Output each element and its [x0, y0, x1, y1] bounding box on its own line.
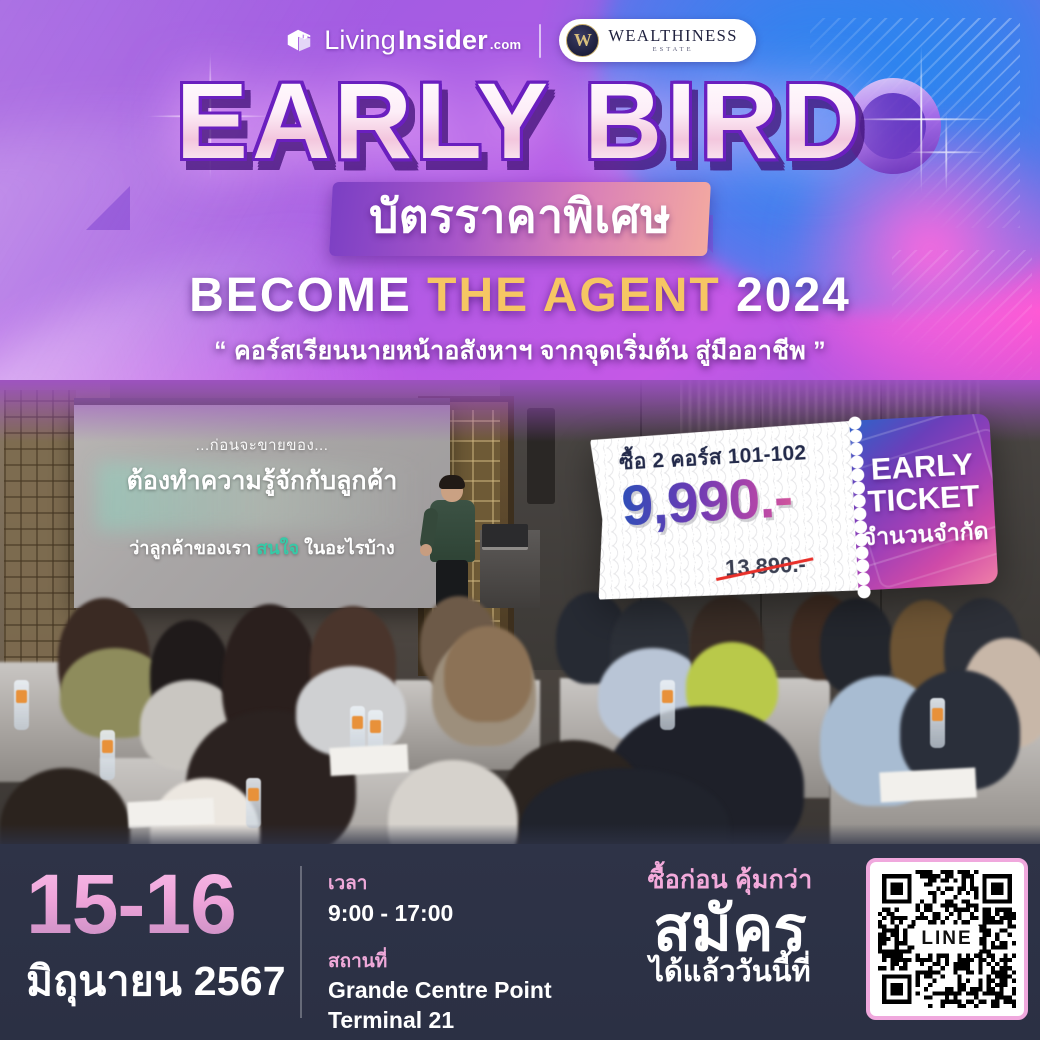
slide-line-3-pre: ว่าลูกค้าของเรา	[129, 538, 256, 558]
audience-person	[444, 626, 532, 722]
qr-block: LINE	[864, 844, 1040, 1040]
logo-word-insider: Insider	[398, 25, 488, 56]
water-bottle	[246, 778, 261, 828]
water-bottle	[100, 730, 115, 780]
event-day-range: 15-16	[26, 866, 300, 943]
subtitle-become: BECOME	[189, 269, 412, 322]
handout	[879, 768, 976, 803]
time-label: เวลา	[328, 870, 602, 899]
venue-line-1: Grande Centre Point	[328, 976, 602, 1005]
living-insider-wordmark: Living Insider .com	[324, 25, 521, 56]
brand-header: Living Insider .com W WEALTHINESS ESTATE	[0, 19, 1040, 62]
water-bottle	[14, 680, 29, 730]
wealthiness-logo[interactable]: W WEALTHINESS ESTATE	[559, 19, 755, 62]
living-insider-logo[interactable]: Living Insider .com	[284, 25, 521, 56]
slide-line-3-highlight: สนใจ	[256, 538, 299, 558]
event-month-year: มิถุนายน 2567	[26, 949, 300, 1014]
early-ticket-badge[interactable]: ซื้อ 2 คอร์ส 101-102 9,990.- 13,890.- EA…	[590, 413, 999, 604]
hero-block: EARLY BIRD บัตรราคาพิเศษ BECOME THE AGEN…	[0, 64, 1040, 371]
logo-word-living: Living	[324, 25, 396, 56]
ticket-price: 9,990.-	[620, 464, 863, 535]
cta-headline: ซื้อก่อน คุ้มกว่า	[648, 860, 813, 900]
venue-label: สถานที่	[328, 948, 602, 977]
event-date-block: 15-16 มิถุนายน 2567	[0, 844, 300, 1040]
thai-price-badge: บัตรราคาพิเศษ	[329, 182, 711, 256]
wealthiness-wordmark: WEALTHINESS ESTATE	[608, 28, 737, 54]
thai-price-badge-label: บัตรราคาพิเศษ	[369, 188, 671, 246]
slide-line-2: ต้องทำความรู้จักกับลูกค้า	[74, 461, 450, 501]
presenter-figure	[424, 478, 480, 608]
qr-line-label: LINE	[914, 926, 979, 952]
event-details-bar: 15-16 มิถุนายน 2567 เวลา 9:00 - 17:00 สถ…	[0, 844, 1040, 1040]
logo-word-dotcom: .com	[490, 37, 522, 52]
handout	[329, 744, 408, 776]
wealthiness-name: WEALTHINESS	[608, 28, 737, 45]
subtitle-become-the-agent: BECOME THE AGENT 2024	[0, 268, 1040, 323]
cta-subline: ได้แล้ววันนี้ที่	[649, 957, 810, 987]
qr-grid: LINE	[878, 870, 1016, 1008]
line-qr-code[interactable]: LINE	[866, 858, 1028, 1020]
wealthiness-monogram-icon: W	[566, 24, 599, 57]
water-bottle	[660, 680, 675, 730]
cta-block: ซื้อก่อน คุ้มกว่า สมัคร ได้แล้ววันนี้ที่	[602, 844, 864, 1040]
wealthiness-sub: ESTATE	[653, 47, 694, 54]
laptop	[482, 524, 528, 550]
subtitle-year: 2024	[736, 269, 851, 322]
water-bottle	[930, 698, 945, 748]
venue-line-2: Terminal 21	[328, 1006, 602, 1035]
ticket-stub-limited: จำนวนจำกัด	[862, 514, 990, 557]
time-value: 9:00 - 17:00	[328, 899, 602, 928]
promo-poster: ...ก่อนจะขายของ... ต้องทำความรู้จักกับลู…	[0, 0, 1040, 1040]
ticket-stub-ticket: TICKET	[867, 480, 981, 519]
headline-early-bird: EARLY BIRD	[0, 64, 1040, 178]
slide-line-3-post: ในอะไรบ้าง	[299, 538, 395, 558]
cube-house-icon	[284, 26, 314, 56]
cta-register: สมัคร	[653, 898, 807, 961]
course-tagline: “ คอร์สเรียนนายหน้าอสังหาฯ จากจุดเริ่มต้…	[0, 331, 1040, 371]
ticket-price-panel: ซื้อ 2 คอร์ส 101-102 9,990.- 13,890.-	[590, 420, 867, 604]
subtitle-the-agent: THE AGENT	[427, 269, 721, 322]
slide-line-3: ว่าลูกค้าของเรา สนใจ ในอะไรบ้าง	[74, 533, 450, 562]
ticket-old-price: 13,890.-	[724, 551, 806, 581]
event-info-block: เวลา 9:00 - 17:00 สถานที่ Grande Centre …	[302, 844, 602, 1040]
logo-divider	[539, 24, 541, 58]
